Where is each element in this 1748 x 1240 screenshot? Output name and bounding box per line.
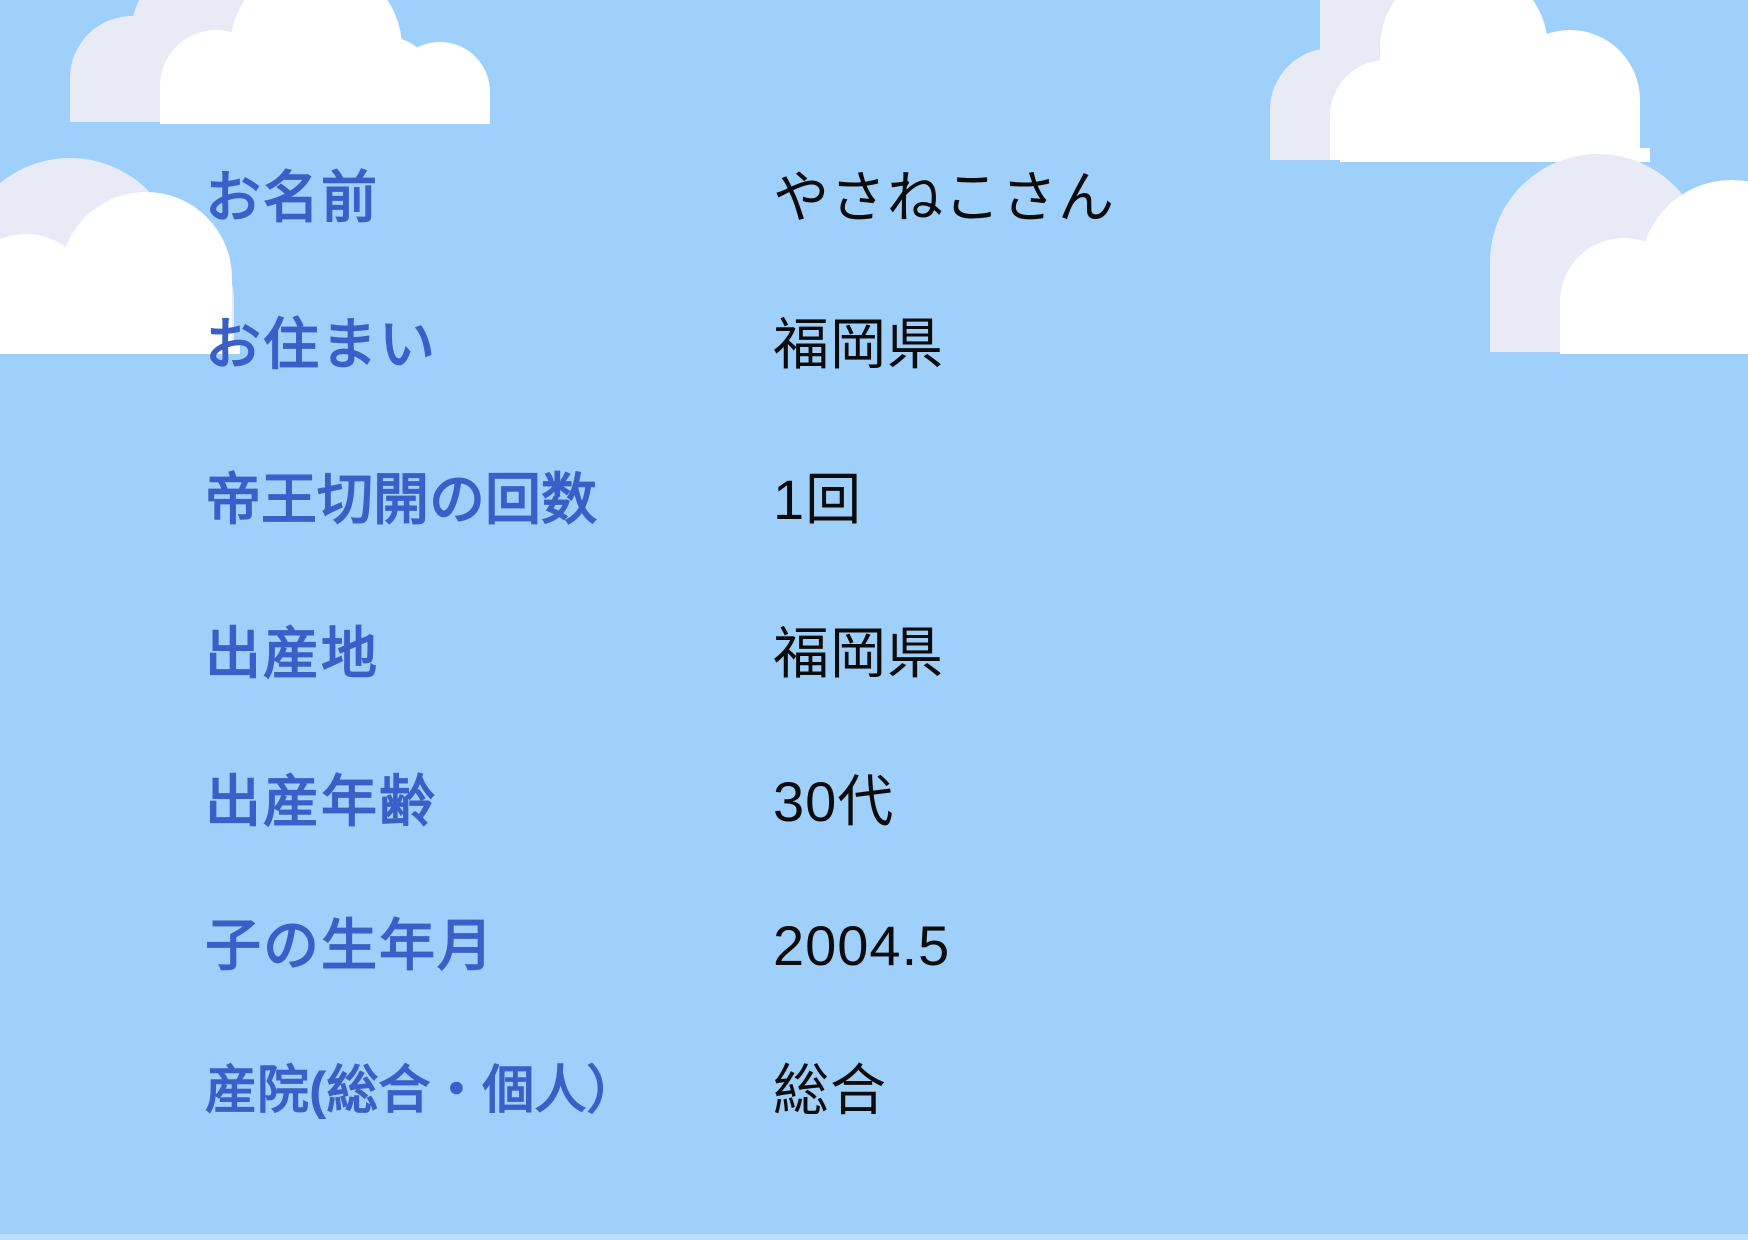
- bottom-edge-strip: [0, 1234, 1748, 1240]
- table-row: 出産年齢 30代: [0, 728, 1748, 876]
- row-value-clinic-type: 総合: [765, 1016, 1748, 1166]
- row-value-name: やさねこさん: [765, 120, 1748, 270]
- table-row: 産院(総合・個人） 総合: [0, 1016, 1748, 1166]
- row-value-birth-age: 30代: [765, 728, 1748, 876]
- table-row: 帝王切開の回数 1回: [0, 420, 1748, 580]
- row-value-csection-count: 1回: [765, 420, 1748, 580]
- row-value-birth-place: 福岡県: [765, 580, 1748, 728]
- table-row: 子の生年月 2004.5: [0, 876, 1748, 1016]
- row-label-name: お名前: [0, 120, 765, 270]
- profile-table: お名前 やさねこさん お住まい 福岡県 帝王切開の回数 1回 出産地 福岡県 出…: [0, 0, 1748, 1240]
- table-row: お住まい 福岡県: [0, 270, 1748, 420]
- table-row: お名前 やさねこさん: [0, 120, 1748, 270]
- table-spacer-bottom: [0, 1166, 1748, 1240]
- row-label-residence: お住まい: [0, 270, 765, 420]
- row-label-birth-age: 出産年齢: [0, 728, 765, 876]
- row-label-child-birth-month: 子の生年月: [0, 876, 765, 1016]
- table-row: 出産地 福岡県: [0, 580, 1748, 728]
- table-spacer-top: [0, 0, 1748, 120]
- row-value-child-birth-month: 2004.5: [765, 876, 1748, 1016]
- row-value-residence: 福岡県: [765, 270, 1748, 420]
- row-label-clinic-type: 産院(総合・個人）: [0, 1016, 765, 1166]
- profile-card: お名前 やさねこさん お住まい 福岡県 帝王切開の回数 1回 出産地 福岡県 出…: [0, 0, 1748, 1240]
- row-label-csection-count: 帝王切開の回数: [0, 420, 765, 580]
- row-label-birth-place: 出産地: [0, 580, 765, 728]
